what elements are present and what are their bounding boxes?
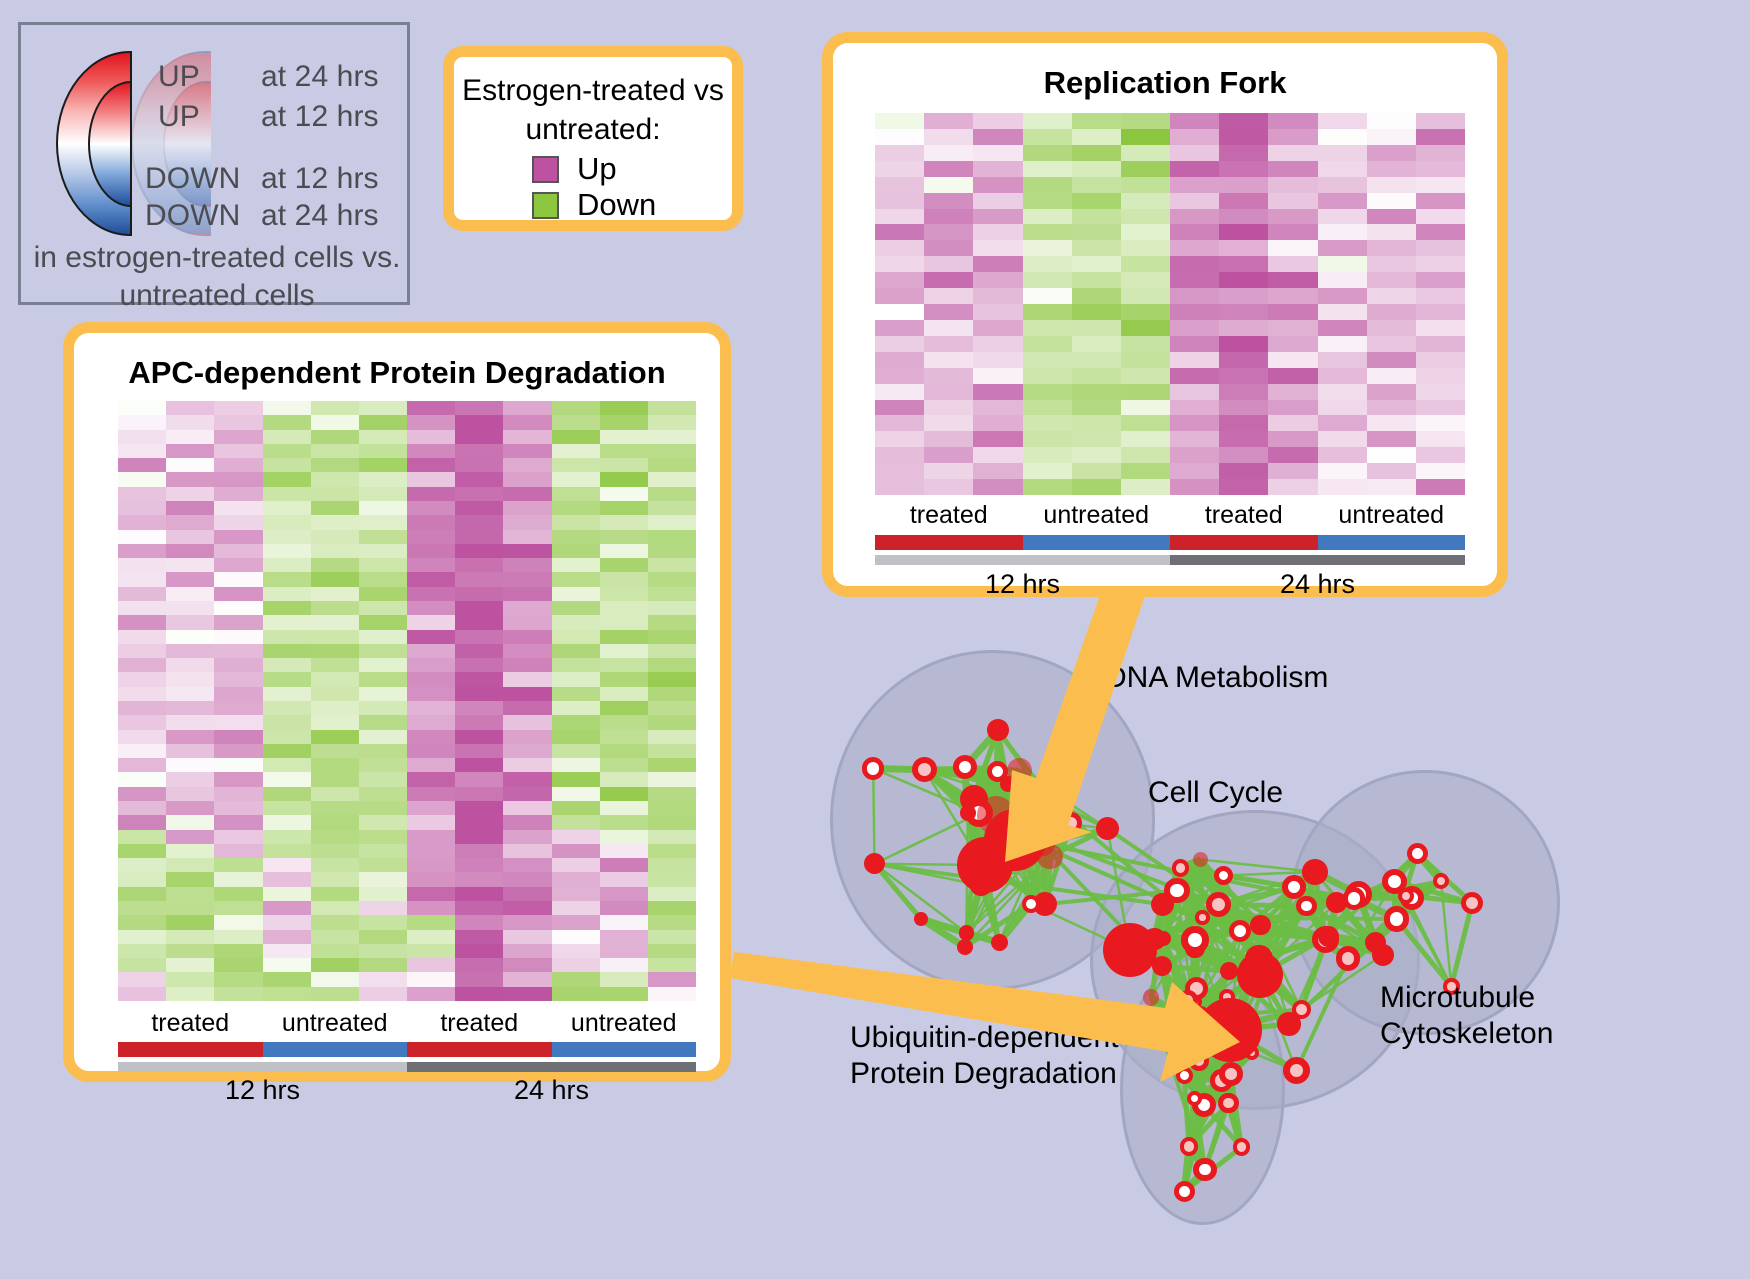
scale-label-down-12: DOWN: [145, 162, 240, 196]
network-node: [1296, 896, 1317, 917]
network-node: [987, 719, 1009, 741]
network-node: [1193, 1158, 1217, 1182]
replication-fork-heatmap: [875, 113, 1465, 495]
time-label: 24 hrs: [407, 1075, 696, 1106]
network-node: [957, 837, 1013, 893]
scale-time-up-12: at 12 hrs: [261, 100, 379, 134]
group-label: untreated: [552, 1009, 697, 1038]
network-node: [960, 805, 976, 821]
apc-treatment-bar: [118, 1042, 696, 1057]
apc-group-labels: treated untreated treated untreated: [118, 1009, 696, 1038]
network-label-cell-cycle: Cell Cycle: [1148, 775, 1283, 811]
network-node: [862, 757, 884, 779]
group-label: treated: [118, 1009, 263, 1038]
group-label: treated: [407, 1009, 552, 1038]
scale-time-down-24: at 24 hrs: [261, 199, 379, 233]
time-label: 12 hrs: [875, 569, 1170, 600]
network-node: [1181, 926, 1209, 954]
network-node: [1250, 915, 1271, 936]
network-node: [1398, 888, 1414, 904]
network-node: [1000, 776, 1016, 792]
scale-label-down-24: DOWN: [145, 199, 240, 233]
replication-fork-title: Replication Fork: [833, 65, 1497, 101]
legend-item-down: Down: [532, 187, 656, 223]
scale-time-down-12: at 12 hrs: [261, 162, 379, 196]
up-down-legend-panel: Estrogen-treated vs untreated: Up Down: [443, 46, 743, 231]
color-scale-legend-box: UP at 24 hrs UP at 12 hrs DOWN at 12 hrs…: [18, 22, 410, 305]
group-label: untreated: [263, 1009, 408, 1038]
legend-item-up: Up: [532, 151, 617, 187]
ring-divider-line: [130, 51, 133, 236]
replication-fork-time-bar: [875, 555, 1465, 565]
pathway-network-diagram: DNA Metabolism Cell Cycle Microtubule Cy…: [790, 620, 1750, 1279]
replication-fork-time-labels: 12 hrs 24 hrs: [875, 569, 1465, 600]
network-node: [991, 934, 1008, 951]
network-node: [1237, 952, 1283, 998]
group-label: treated: [875, 501, 1023, 530]
replication-fork-panel: Replication Fork treated untreated treat…: [822, 32, 1508, 597]
network-node: [1206, 892, 1231, 917]
scale-label-up-12: UP: [158, 100, 200, 134]
network-node: [1277, 1012, 1300, 1035]
group-label: treated: [1170, 501, 1318, 530]
apc-time-bar: [118, 1062, 696, 1072]
replication-fork-group-labels: treated untreated treated untreated: [875, 501, 1465, 530]
network-label-ubiquitin: Ubiquitin-dependent Protein Degradation: [850, 1020, 1119, 1092]
group-label: untreated: [1318, 501, 1466, 530]
legend-label-down: Down: [577, 187, 656, 223]
group-label: untreated: [1023, 501, 1171, 530]
network-label-microtubule: Microtubule Cytoskeleton: [1380, 980, 1553, 1052]
network-node: [959, 925, 974, 940]
apc-degradation-title: APC-dependent Protein Degradation: [74, 355, 720, 391]
network-node: [1143, 989, 1159, 1005]
network-node: [1302, 859, 1328, 885]
apc-time-labels: 12 hrs 24 hrs: [118, 1075, 696, 1106]
network-node: [1022, 895, 1040, 913]
legend-swatch-up: [532, 156, 559, 183]
network-node: [1174, 1181, 1195, 1202]
network-node: [1283, 1057, 1310, 1084]
scale-label-up-24: UP: [158, 60, 200, 94]
network-node: [1318, 926, 1339, 947]
network-node: [1407, 843, 1428, 864]
network-node: [1384, 906, 1410, 932]
network-node: [1198, 998, 1262, 1062]
scale-time-up-24: at 24 hrs: [261, 60, 379, 94]
apc-degradation-heatmap: [118, 401, 696, 1001]
network-node: [953, 755, 977, 779]
legend-title: Estrogen-treated vs untreated:: [454, 71, 732, 149]
network-node: [1336, 946, 1361, 971]
ring-solid-half: [56, 43, 131, 244]
network-node: [1343, 887, 1365, 909]
apc-degradation-panel: APC-dependent Protein Degradation treate…: [63, 322, 731, 1082]
network-node: [1219, 1062, 1243, 1086]
time-label: 24 hrs: [1170, 569, 1465, 600]
time-label: 12 hrs: [118, 1075, 407, 1106]
replication-fork-treatment-bar: [875, 535, 1465, 550]
legend-swatch-down: [532, 192, 559, 219]
network-node: [1233, 1138, 1251, 1156]
network-node: [1218, 1093, 1238, 1113]
scale-footer-text: in estrogen-treated cells vs. untreated …: [21, 239, 413, 315]
network-label-dna-metabolism: DNA Metabolism: [1105, 660, 1328, 696]
network-node: [957, 939, 973, 955]
network-node: [1172, 859, 1190, 877]
network-node: [1189, 1051, 1209, 1071]
network-node: [1187, 1091, 1202, 1106]
network-node: [1103, 923, 1157, 977]
network-node: [1029, 781, 1060, 812]
network-node: [1195, 910, 1209, 924]
legend-label-up: Up: [577, 151, 617, 187]
